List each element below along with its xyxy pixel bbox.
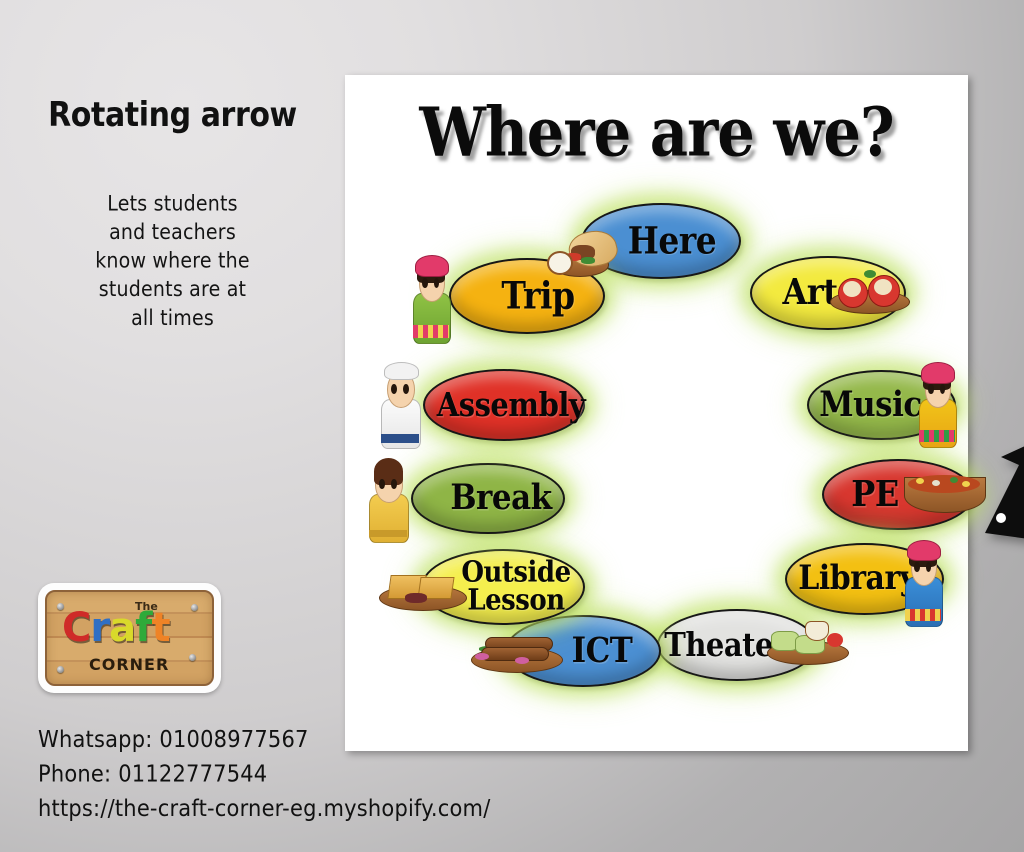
option-oval[interactable]: Music xyxy=(807,370,956,440)
logo-letter: a xyxy=(109,605,135,651)
option-oval[interactable]: PE xyxy=(822,459,974,530)
option-oval[interactable]: ICT xyxy=(505,615,661,687)
card-title: Where are we? xyxy=(339,93,974,172)
logo-letter: r xyxy=(90,605,109,651)
logo-letter: t xyxy=(152,605,170,651)
screw-icon xyxy=(191,604,198,611)
logo-wood-board: The Craft CORNER xyxy=(45,590,214,686)
boy-figure-icon xyxy=(363,453,413,541)
option-label: Assembly xyxy=(437,389,585,421)
option-art[interactable]: Art xyxy=(750,256,902,326)
option-oval[interactable]: Here xyxy=(581,203,741,279)
option-label: PE xyxy=(851,477,898,512)
option-label: OutsideLesson xyxy=(461,558,570,615)
description-text: Lets students and teachers know where th… xyxy=(0,190,345,333)
poster-root: Rotating arrow Lets students and teacher… xyxy=(0,0,1024,852)
logo-corner-text: CORNER xyxy=(89,655,169,674)
logo-craft-text: Craft xyxy=(62,606,170,650)
description-line: students are at xyxy=(0,275,345,304)
logo-letter: f xyxy=(135,605,151,651)
option-oval[interactable]: Assembly xyxy=(423,369,585,441)
logo-letter: C xyxy=(62,605,90,651)
option-label: Library xyxy=(798,563,916,596)
option-label: Theater xyxy=(664,629,788,661)
page-title: Rotating arrow xyxy=(0,96,345,135)
option-pe[interactable]: PE xyxy=(822,459,970,526)
description-line: all times xyxy=(0,304,345,333)
option-oval[interactable]: Trip xyxy=(449,258,605,334)
option-oval[interactable]: Library xyxy=(785,543,944,615)
option-oval[interactable]: OutsideLesson xyxy=(421,549,585,625)
option-here[interactable]: Here xyxy=(581,203,737,275)
rotating-arrow-icon[interactable] xyxy=(975,403,1024,543)
option-oval[interactable]: Art xyxy=(750,256,906,330)
option-label: Break xyxy=(450,481,551,515)
phone-line: Phone: 01122777544 xyxy=(38,757,491,792)
option-label: Art xyxy=(783,275,838,310)
boy-figure-icon xyxy=(375,357,425,447)
description-line: Lets students xyxy=(0,190,345,219)
screw-icon xyxy=(189,654,196,661)
poster-card: Where are we? Here xyxy=(345,75,968,751)
option-outside-lesson[interactable]: OutsideLesson xyxy=(421,549,581,621)
option-music[interactable]: Music xyxy=(807,370,952,436)
option-ict[interactable]: ICT xyxy=(505,615,657,683)
description-line: and teachers xyxy=(0,218,345,247)
option-oval[interactable]: Theater xyxy=(657,609,817,681)
option-library[interactable]: Library xyxy=(785,543,940,611)
option-theater[interactable]: Theater xyxy=(657,609,813,677)
option-trip[interactable]: Trip xyxy=(449,258,601,330)
option-label: ICT xyxy=(572,634,633,668)
option-assembly[interactable]: Assembly xyxy=(423,369,581,437)
option-label: Trip xyxy=(501,278,574,314)
option-oval[interactable]: Break xyxy=(411,463,565,534)
description-line: know where the xyxy=(0,247,345,276)
brand-logo: The Craft CORNER xyxy=(38,583,221,693)
left-info-panel: Rotating arrow Lets students and teacher… xyxy=(0,0,345,852)
screw-icon xyxy=(57,666,64,673)
girl-figure-icon xyxy=(407,250,455,342)
option-break[interactable]: Break xyxy=(411,463,561,530)
option-label: Here xyxy=(628,223,717,259)
option-label: Music xyxy=(819,388,921,422)
website-link[interactable]: https://the-craft-corner-eg.myshopify.co… xyxy=(38,791,491,826)
